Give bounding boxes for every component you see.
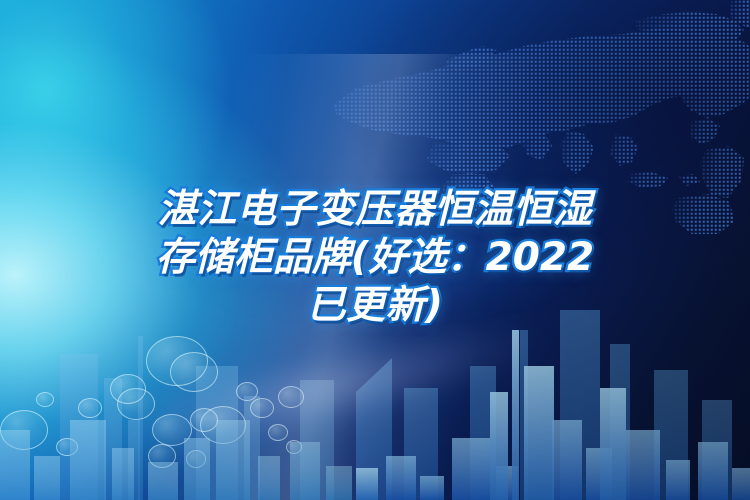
headline-line-2: 存储柜品牌(好选：2022 xyxy=(0,234,750,282)
headline-line-1: 湛江电子变压器恒温恒湿 xyxy=(0,186,750,234)
promo-banner: 湛江电子变压器恒温恒湿 存储柜品牌(好选：2022 已更新) xyxy=(0,0,750,500)
banner-headline: 湛江电子变压器恒温恒湿 存储柜品牌(好选：2022 已更新) xyxy=(0,186,750,330)
headline-line-3: 已更新) xyxy=(0,282,750,330)
